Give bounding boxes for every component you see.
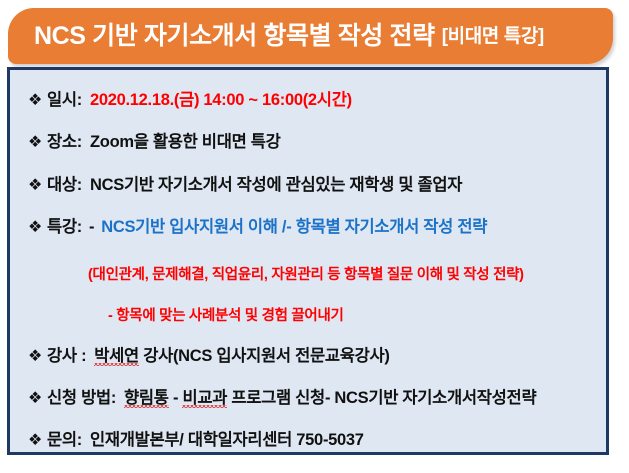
bullet-icon: ❖ — [28, 390, 42, 407]
info-value-instructor-name: 박세연 — [94, 348, 139, 366]
bullet-icon: ❖ — [28, 177, 42, 194]
lecture-subline-topics: (대인관계, 문제해결, 직업윤리, 자원관리 등 항목별 질문 이해 및 작성… — [88, 263, 524, 284]
info-line-instructor: ❖강사 :박세연 강사(NCS 입사지원서 전문교육강사) — [28, 348, 390, 366]
info-value-date: 2020.12.18.(금) 14:00 ~ 16:00(2시간) — [90, 91, 352, 109]
info-label-place: 장소: — [47, 133, 82, 151]
info-line-apply: ❖신청 방법:향림통 - 비교과 프로그램 신청- NCS기반 자기소개서작성전… — [28, 390, 536, 408]
page-title: NCS 기반 자기소개서 항목별 작성 전략 — [34, 24, 435, 49]
info-line-lecture: ❖특강:-NCS기반 입사지원서 이해 /- 항목별 자기소개서 작성 전략 — [28, 219, 487, 236]
bullet-icon: ❖ — [28, 92, 42, 109]
info-value-instructor-title: 강사(NCS 입사지원서 전문교육강사) — [139, 347, 390, 365]
lecture-subline-cases: - 항목에 맞는 사례분석 및 경험 끌어내기 — [108, 304, 344, 325]
info-value-apply-sep: - — [169, 389, 183, 407]
info-line-audience: ❖대상:NCS기반 자기소개서 작성에 관심있는 재학생 및 졸업자 — [28, 177, 462, 194]
info-label-apply: 신청 방법: — [47, 389, 116, 407]
info-line-contact: ❖문의:인재개발본부/ 대학일자리센터 750-5037 — [28, 432, 364, 449]
poster-root: NCS 기반 자기소개서 항목별 작성 전략 [비대면 특강] ❖일시:2020… — [0, 0, 629, 473]
info-line-date: ❖일시:2020.12.18.(금) 14:00 ~ 16:00(2시간) — [28, 92, 352, 109]
title-banner: NCS 기반 자기소개서 항목별 작성 전략 [비대면 특강] — [8, 8, 613, 64]
body-box: ❖일시:2020.12.18.(금) 14:00 ~ 16:00(2시간) ❖장… — [7, 67, 609, 455]
info-lecture-dash: - — [89, 218, 94, 236]
info-label-lecture: 특강: — [47, 218, 82, 236]
info-value-lecture: NCS기반 입사지원서 이해 /- 항목별 자기소개서 작성 전략 — [101, 218, 487, 236]
bullet-icon: ❖ — [28, 219, 42, 236]
info-value-apply-category: 비교과 — [182, 390, 227, 408]
bullet-icon: ❖ — [28, 134, 42, 151]
info-value-audience: NCS기반 자기소개서 작성에 관심있는 재학생 및 졸업자 — [90, 176, 462, 194]
bullet-icon: ❖ — [28, 348, 42, 365]
info-label-date: 일시: — [47, 91, 82, 109]
info-label-audience: 대상: — [47, 176, 82, 194]
page-title-suffix: [비대면 특강] — [442, 27, 544, 46]
info-value-place: Zoom을 활용한 비대면 특강 — [90, 133, 280, 151]
info-value-apply-rest: 프로그램 신청- NCS기반 자기소개서작성전략 — [227, 389, 536, 407]
info-label-instructor: 강사 : — [47, 347, 86, 365]
info-value-contact: 인재개발본부/ 대학일자리센터 750-5037 — [90, 431, 364, 449]
info-value-apply-portal: 향림통 — [124, 390, 169, 408]
bullet-icon: ❖ — [28, 432, 42, 449]
info-line-place: ❖장소:Zoom을 활용한 비대면 특강 — [28, 134, 281, 151]
info-label-contact: 문의: — [47, 431, 82, 449]
